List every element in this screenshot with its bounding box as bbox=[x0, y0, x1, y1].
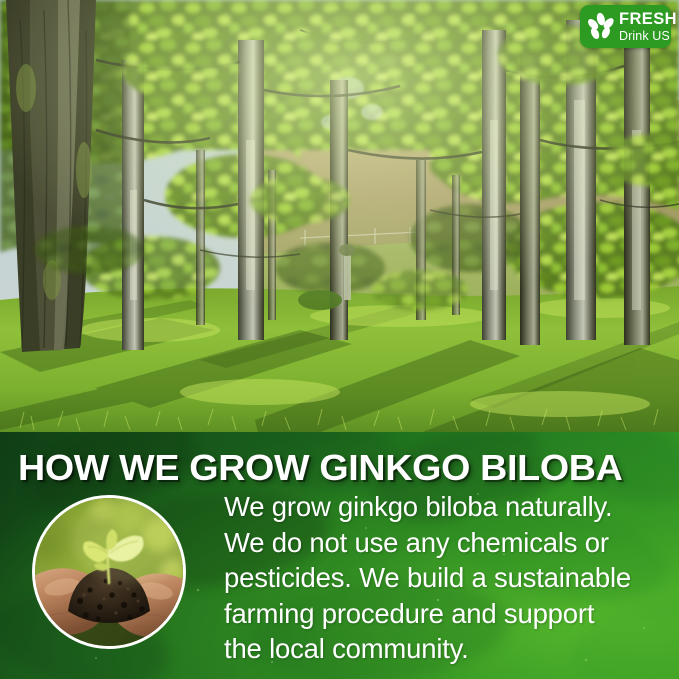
brand-name-primary: FRESH bbox=[619, 11, 677, 28]
leaf-cluster-icon bbox=[585, 11, 616, 42]
panel-body-text: We grow ginkgo biloba naturally. We do n… bbox=[224, 489, 672, 667]
hands-holding-seedling-illustration bbox=[32, 495, 186, 649]
seedling-circle-image bbox=[32, 495, 186, 649]
product-infographic-card: FRESH Drink US bbox=[0, 0, 679, 679]
forest-scene-illustration bbox=[0, 0, 679, 433]
brand-name-secondary: Drink US bbox=[619, 30, 677, 43]
forest-hero-image bbox=[0, 0, 679, 433]
brand-wordmark: FRESH Drink US bbox=[619, 11, 677, 42]
brand-logo-badge: FRESH Drink US bbox=[580, 5, 671, 48]
panel-headline: HOW WE GROW GINKGO BILOBA bbox=[18, 447, 679, 489]
